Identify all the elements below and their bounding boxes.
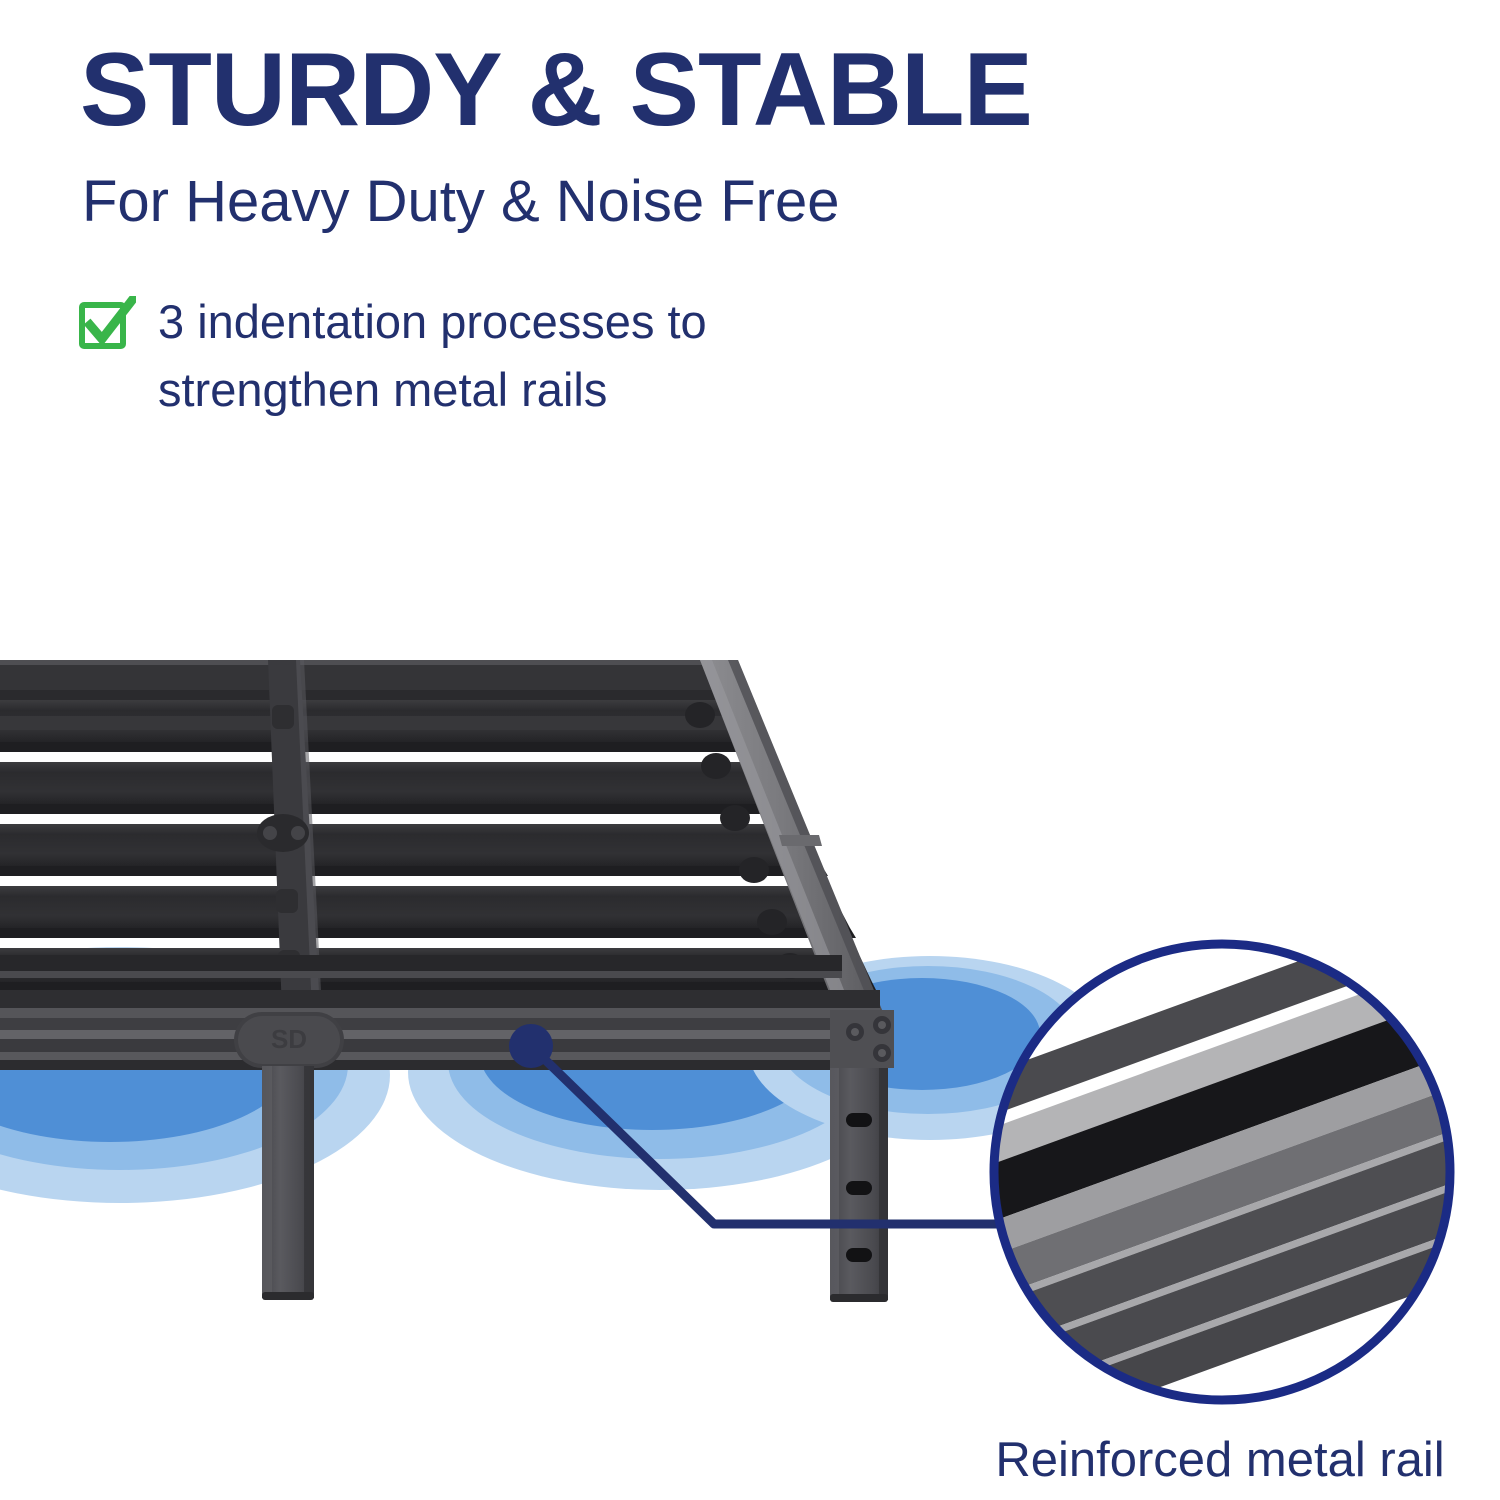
promo-graphic: SD — [0, 0, 1500, 1500]
slat-bolts — [685, 702, 805, 979]
slat-deck — [0, 660, 876, 1010]
center-support-rail — [268, 660, 322, 1010]
feature-bullet-text: 3 indentation processes to strengthen me… — [158, 288, 798, 424]
callout-caption: Reinforced metal rail — [960, 1432, 1480, 1488]
slats — [0, 700, 876, 990]
page-title: STURDY & STABLE — [80, 36, 1032, 145]
svg-text:SD: SD — [271, 1024, 307, 1054]
floor-shadow-ellipses — [0, 947, 1112, 1203]
callout-pointer — [509, 1024, 1010, 1224]
green-checkbox-icon — [78, 296, 136, 354]
magnified-rail-detail — [889, 898, 1500, 1442]
leg-corner-right — [830, 1010, 894, 1302]
feature-bullet: 3 indentation processes to strengthen me… — [78, 288, 838, 424]
leg-center — [262, 1066, 314, 1300]
right-side-rail — [700, 660, 882, 1010]
page-subtitle: For Heavy Duty & Noise Free — [82, 170, 839, 234]
front-frame-rail — [0, 990, 880, 1070]
center-logo-bracket: SD — [234, 1012, 344, 1068]
slats-far — [0, 665, 762, 730]
inner-frame-rail — [0, 955, 842, 978]
center-hinge-nodes — [257, 705, 309, 972]
